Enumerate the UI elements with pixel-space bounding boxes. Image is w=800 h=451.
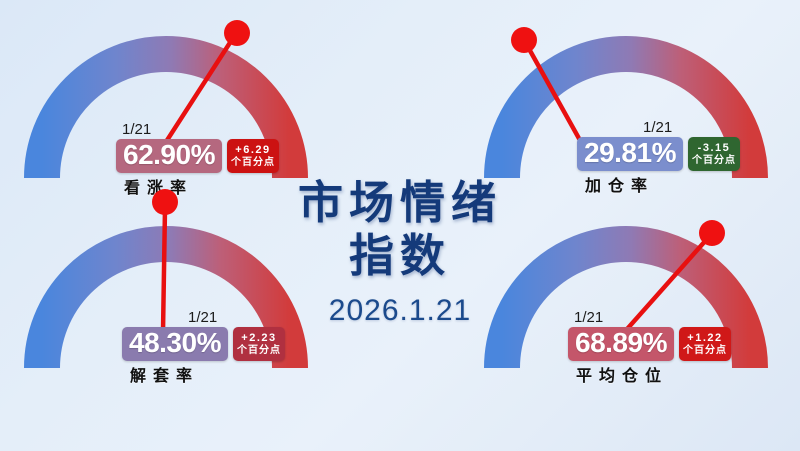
- value-text-3: 48.30%: [129, 328, 221, 358]
- delta-unit-2: 个百分点: [692, 155, 736, 166]
- metric-label-4: 平均仓位: [576, 362, 731, 386]
- value-badge-1: 62.90%: [116, 139, 222, 173]
- readout-average-position: 1/21 68.89% +1.22 个百分点 平均仓位: [568, 310, 731, 386]
- readout-bullish-rate: 1/21 62.90% +6.29 个百分点 看涨率: [116, 122, 279, 198]
- value-text-4: 68.89%: [575, 328, 667, 358]
- value-badge-3: 48.30%: [122, 327, 228, 361]
- value-text-1: 62.90%: [123, 140, 215, 170]
- gauge-value-row-2: 29.81% -3.15 个百分点: [577, 137, 740, 171]
- readout-add-position-rate: 1/21 29.81% -3.15 个百分点 加仓率: [577, 120, 740, 196]
- readout-unlock-rate: 1/21 48.30% +2.23 个百分点 解套率: [122, 310, 285, 386]
- delta-badge-3: +2.23 个百分点: [233, 327, 285, 361]
- delta-unit-4: 个百分点: [683, 345, 727, 356]
- value-badge-2: 29.81%: [577, 137, 683, 171]
- delta-value-4: +1.22: [687, 332, 722, 344]
- gauge-date-2: 1/21: [643, 120, 672, 135]
- dashboard-stage: 1/21 62.90% +6.29 个百分点 看涨率: [0, 0, 800, 451]
- gauge-needle-knob-2: [511, 27, 537, 53]
- delta-badge-4: +1.22 个百分点: [679, 327, 731, 361]
- gauge-value-row-3: 48.30% +2.23 个百分点: [122, 327, 285, 361]
- gauge-value-row-4: 68.89% +1.22 个百分点: [568, 327, 731, 361]
- gauge-date-4: 1/21: [574, 310, 603, 325]
- gauge-value-row-1: 62.90% +6.29 个百分点: [116, 139, 279, 173]
- delta-unit-1: 个百分点: [231, 157, 275, 168]
- gauge-needle-knob-4: [699, 220, 725, 246]
- delta-badge-1: +6.29 个百分点: [227, 139, 279, 173]
- value-text-2: 29.81%: [584, 138, 676, 168]
- metric-label-2: 加仓率: [585, 172, 740, 196]
- gauge-needle-knob-3: [152, 189, 178, 215]
- gauge-date-1: 1/21: [122, 122, 151, 137]
- delta-value-1: +6.29: [235, 144, 270, 156]
- value-badge-4: 68.89%: [568, 327, 674, 361]
- delta-badge-2: -3.15 个百分点: [688, 137, 740, 171]
- gauge-date-3: 1/21: [188, 310, 217, 325]
- gauge-needle-knob-1: [224, 20, 250, 46]
- metric-label-3: 解套率: [130, 362, 285, 386]
- delta-value-3: +2.23: [241, 332, 276, 344]
- metric-label-1: 看涨率: [124, 174, 279, 198]
- delta-unit-3: 个百分点: [237, 345, 281, 356]
- delta-value-2: -3.15: [698, 142, 731, 154]
